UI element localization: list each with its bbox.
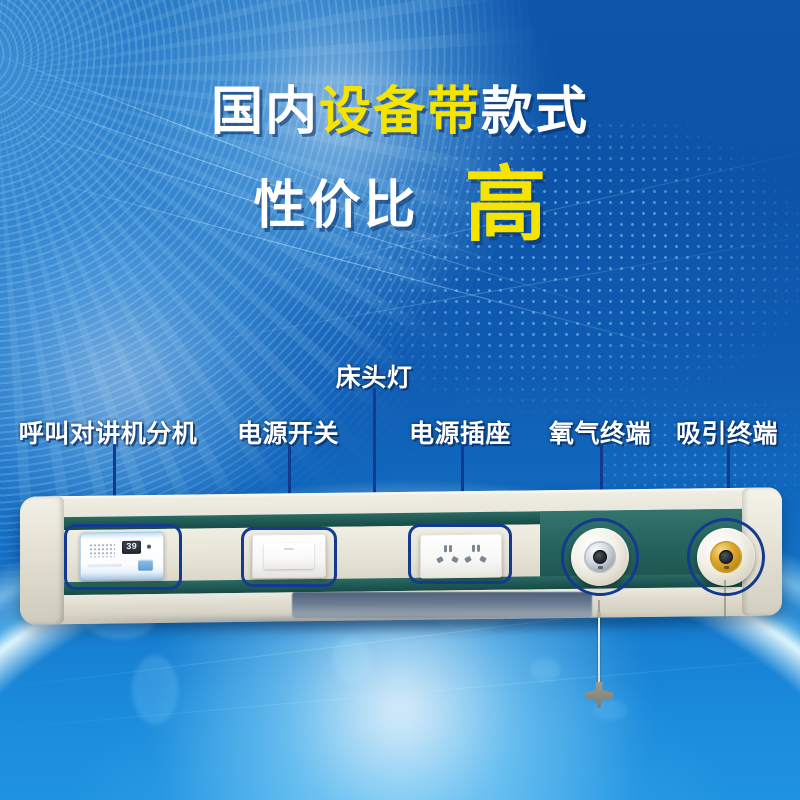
callout-label-socket: 电源插座 (409, 414, 511, 450)
headline-part-1: 国内 (211, 83, 319, 141)
highlight-box-socket (408, 524, 512, 584)
headline-line-2: 性价比 高 (0, 165, 800, 247)
headline-part-2: 设备带 (319, 83, 481, 141)
highlight-box-intercom (64, 524, 182, 590)
highlight-box-switch (241, 527, 337, 587)
headline-part-3: 款式 (481, 83, 589, 141)
glow-left (0, 230, 330, 530)
headline-subtitle: 性价比 (253, 180, 418, 232)
panel-seam-line (598, 600, 600, 618)
promo-banner: 国内设备带款式 性价比 高 呼叫对讲机分机 电源开关 床头灯 电源插座 氧气终端… (0, 0, 800, 800)
headline-line-1: 国内设备带款式 (0, 86, 800, 138)
highlight-circle-suction (687, 518, 765, 596)
bedlamp-pull-cord[interactable] (598, 612, 600, 690)
bedlamp-pull-cord-weight-icon[interactable] (585, 682, 613, 708)
panel-end-cap-left (20, 496, 64, 625)
callout-label-intercom: 呼叫对讲机分机 (19, 414, 198, 450)
panel-rail-reflection (292, 592, 592, 618)
highlight-circle-oxygen (561, 518, 639, 596)
panel-drop-shadow (44, 618, 764, 634)
headline-emphasis: 高 (465, 165, 547, 247)
